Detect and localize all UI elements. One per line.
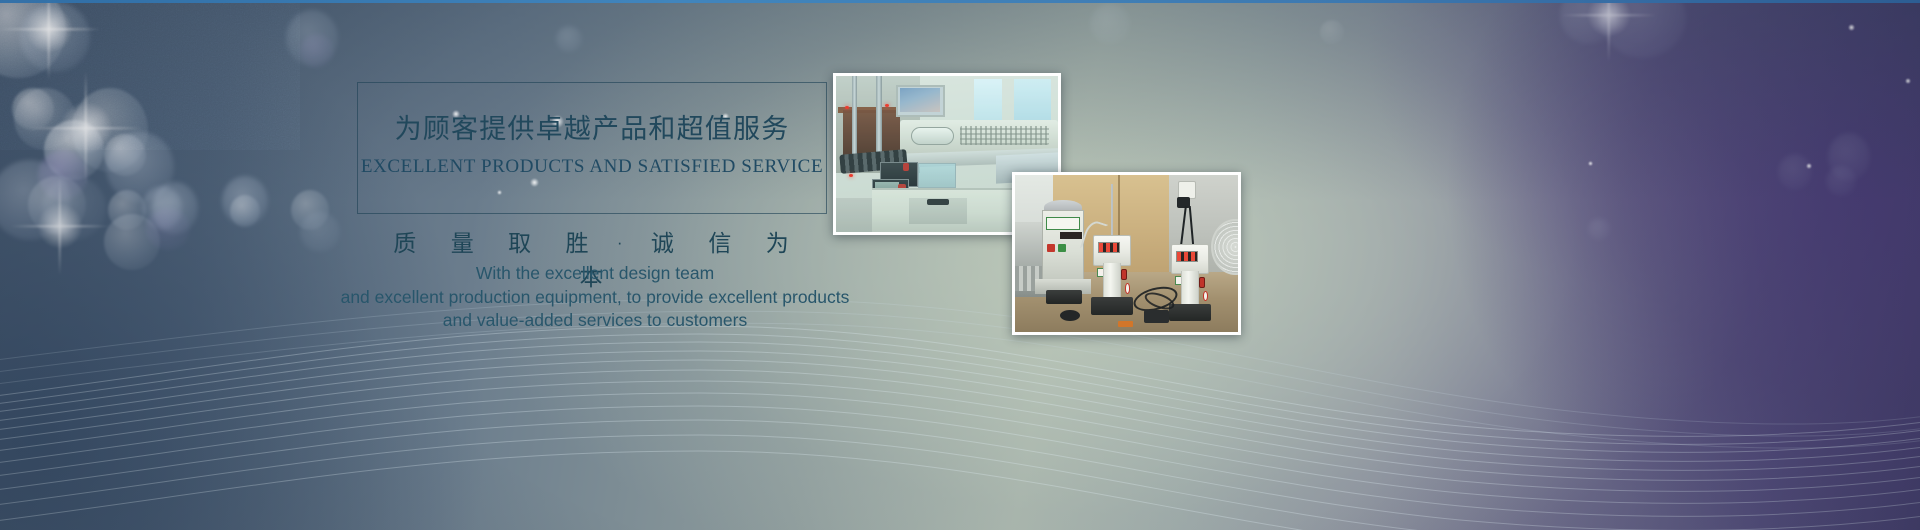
slogan-char: 信 <box>708 230 733 256</box>
headline-chinese: 为顾客提供卓越产品和超值服务 <box>357 107 827 146</box>
description-paragraph: With the excellent design team and excel… <box>300 262 890 333</box>
paragraph-line: and value-added services to customers <box>300 309 890 333</box>
slogan-separator: · <box>617 233 625 252</box>
banner-content: 为顾客提供卓越产品和超值服务 EXCELLENT PRODUCTS AND SA… <box>0 0 1920 530</box>
slogan-char: 质 <box>393 230 418 256</box>
paragraph-line: and excellent production equipment, to p… <box>300 286 890 310</box>
bench-press-photo <box>1012 172 1241 335</box>
slogan-char: 量 <box>451 230 476 256</box>
slogan-char: 为 <box>766 230 791 256</box>
slogan-char: 取 <box>508 230 533 256</box>
headline-frame <box>357 82 827 214</box>
headline-english: EXCELLENT PRODUCTS AND SATISFIED SERVICE <box>357 156 827 178</box>
company-culture-banner: 为顾客提供卓越产品和超值服务 EXCELLENT PRODUCTS AND SA… <box>0 0 1920 530</box>
paragraph-line: With the excellent design team <box>300 262 890 286</box>
slogan-char: 胜 <box>565 230 590 256</box>
slogan-char: 诚 <box>651 230 676 256</box>
